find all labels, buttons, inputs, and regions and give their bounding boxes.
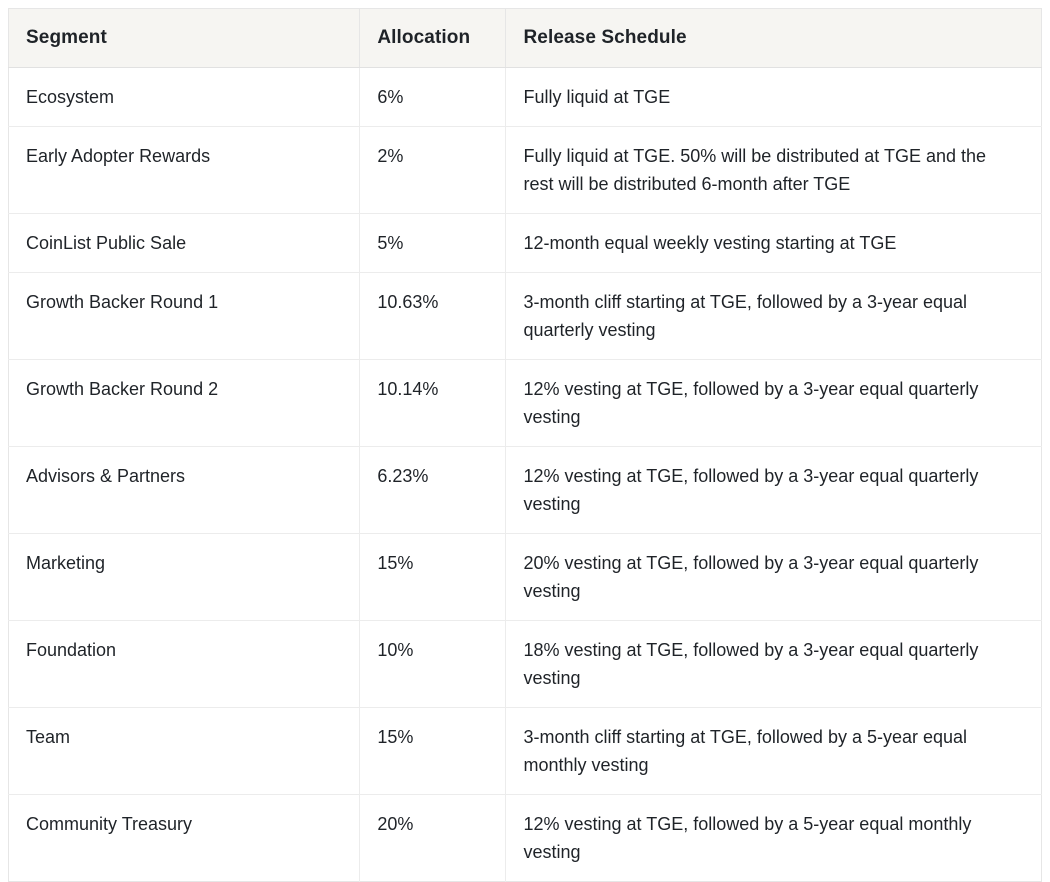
cell-segment: Team [9,708,360,795]
cell-allocation: 15% [360,534,506,621]
table-row: Community Treasury20%12% vesting at TGE,… [9,795,1042,882]
cell-segment: CoinList Public Sale [9,214,360,273]
cell-segment: Growth Backer Round 1 [9,273,360,360]
column-header-release-schedule: Release Schedule [506,9,1042,68]
cell-allocation: 2% [360,127,506,214]
cell-release-schedule: 3-month cliff starting at TGE, followed … [506,708,1042,795]
cell-segment: Marketing [9,534,360,621]
cell-allocation: 10.14% [360,360,506,447]
cell-release-schedule: 20% vesting at TGE, followed by a 3-year… [506,534,1042,621]
column-header-segment: Segment [9,9,360,68]
cell-segment: Advisors & Partners [9,447,360,534]
token-allocation-table: Segment Allocation Release Schedule Ecos… [8,8,1042,882]
table-row: Early Adopter Rewards2%Fully liquid at T… [9,127,1042,214]
cell-release-schedule: 3-month cliff starting at TGE, followed … [506,273,1042,360]
cell-segment: Community Treasury [9,795,360,882]
table-header-row: Segment Allocation Release Schedule [9,9,1042,68]
table-row: CoinList Public Sale5%12-month equal wee… [9,214,1042,273]
token-allocation-table-container: Segment Allocation Release Schedule Ecos… [8,8,1042,882]
table-row: Marketing15%20% vesting at TGE, followed… [9,534,1042,621]
cell-allocation: 6.23% [360,447,506,534]
table-row: Growth Backer Round 210.14%12% vesting a… [9,360,1042,447]
table-row: Growth Backer Round 110.63%3-month cliff… [9,273,1042,360]
cell-allocation: 10% [360,621,506,708]
column-header-allocation: Allocation [360,9,506,68]
cell-allocation: 20% [360,795,506,882]
table-row: Ecosystem6%Fully liquid at TGE [9,68,1042,127]
cell-release-schedule: 12% vesting at TGE, followed by a 3-year… [506,447,1042,534]
cell-segment: Early Adopter Rewards [9,127,360,214]
cell-release-schedule: 12% vesting at TGE, followed by a 5-year… [506,795,1042,882]
table-row: Foundation10%18% vesting at TGE, followe… [9,621,1042,708]
table-body: Ecosystem6%Fully liquid at TGEEarly Adop… [9,68,1042,882]
cell-allocation: 6% [360,68,506,127]
cell-release-schedule: 12-month equal weekly vesting starting a… [506,214,1042,273]
cell-segment: Ecosystem [9,68,360,127]
cell-allocation: 10.63% [360,273,506,360]
table-row: Team15%3-month cliff starting at TGE, fo… [9,708,1042,795]
cell-release-schedule: Fully liquid at TGE. 50% will be distrib… [506,127,1042,214]
cell-allocation: 15% [360,708,506,795]
cell-release-schedule: Fully liquid at TGE [506,68,1042,127]
cell-allocation: 5% [360,214,506,273]
table-row: Advisors & Partners6.23%12% vesting at T… [9,447,1042,534]
cell-segment: Foundation [9,621,360,708]
cell-release-schedule: 12% vesting at TGE, followed by a 3-year… [506,360,1042,447]
table-header: Segment Allocation Release Schedule [9,9,1042,68]
cell-segment: Growth Backer Round 2 [9,360,360,447]
cell-release-schedule: 18% vesting at TGE, followed by a 3-year… [506,621,1042,708]
